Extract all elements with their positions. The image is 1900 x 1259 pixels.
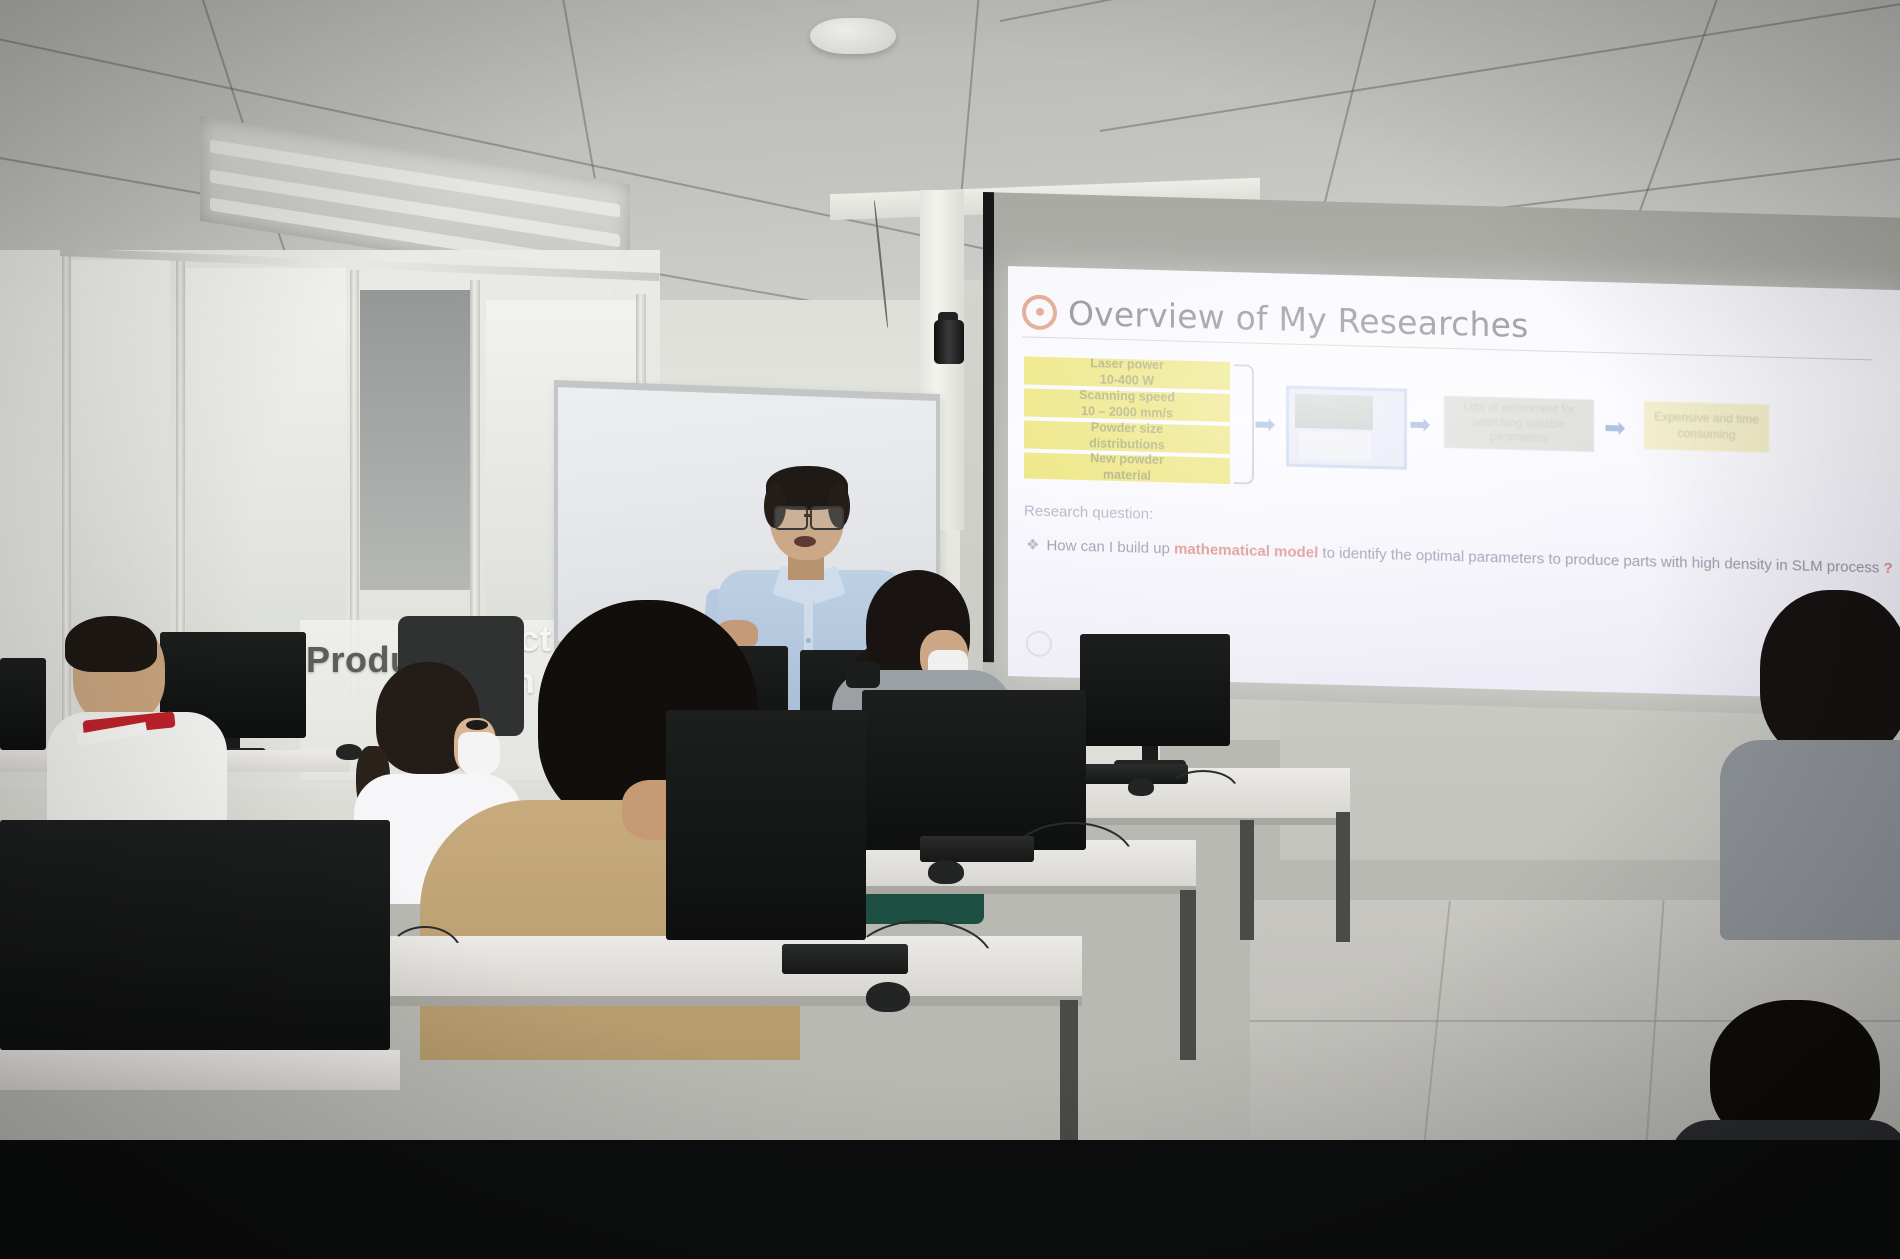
wristwatch-icon (846, 662, 880, 688)
arrow-right-icon-3: ➡ (1604, 414, 1626, 441)
foreground-shadow (0, 1140, 1900, 1259)
slide-diagram: Laser power 10-400 W Scanning speed 10 –… (1024, 356, 1884, 499)
gray-box-experiment: Lots of experiment for searching suitabl… (1444, 396, 1594, 452)
smoke-detector-icon (810, 18, 896, 54)
parameter-box-powder-size: Powder size distributions (1024, 420, 1230, 454)
arrow-right-icon-1: ➡ (1254, 411, 1276, 438)
eyeglasses-icon (774, 506, 808, 530)
bullet-question-mark: ? (1884, 560, 1893, 577)
research-question-label: Research question: (1024, 502, 1153, 522)
mouse-front[interactable] (866, 982, 910, 1012)
footer-logo-icon (1026, 630, 1052, 657)
yellow-box-expensive: Expensive and time consuming (1644, 401, 1769, 452)
diagram-bracket (1234, 364, 1254, 485)
monitor-back-right[interactable] (1080, 634, 1230, 746)
parameter-box-laser-power: Laser power 10-400 W (1024, 356, 1230, 390)
mouse-mid-right[interactable] (928, 860, 964, 884)
classroom-scene: ProduProduct Design Overview of My Resea… (0, 0, 1900, 1259)
parameter-box-new-powder: New powder material (1024, 452, 1230, 484)
monitor-front-center[interactable] (666, 710, 866, 940)
desk-front-left (0, 1050, 400, 1090)
slide-title: Overview of My Researches (1068, 293, 1529, 344)
diamond-bullet-icon: ❖ (1026, 536, 1039, 553)
arrow-right-icon-2: ➡ (1409, 411, 1431, 438)
research-question-bullet: ❖How can I build up mathematical model t… (1026, 534, 1896, 579)
bullet-part2: to identify the optimal parameters to pr… (1322, 545, 1879, 577)
monitor-far-left[interactable] (0, 658, 46, 750)
target-icon (1022, 294, 1057, 330)
student-right-gray-jacket (1760, 590, 1900, 910)
speaker-icon (934, 320, 964, 364)
parameter-box-scanning-speed: Scanning speed 10 – 2000 mm/s (1024, 388, 1230, 422)
monitor-front-left[interactable] (0, 820, 390, 1050)
mouse-back-right[interactable] (1128, 778, 1154, 796)
bullet-highlight: mathematical model (1174, 540, 1318, 561)
slm-machine-photo (1286, 386, 1407, 470)
bullet-part1: How can I build up (1046, 537, 1169, 557)
